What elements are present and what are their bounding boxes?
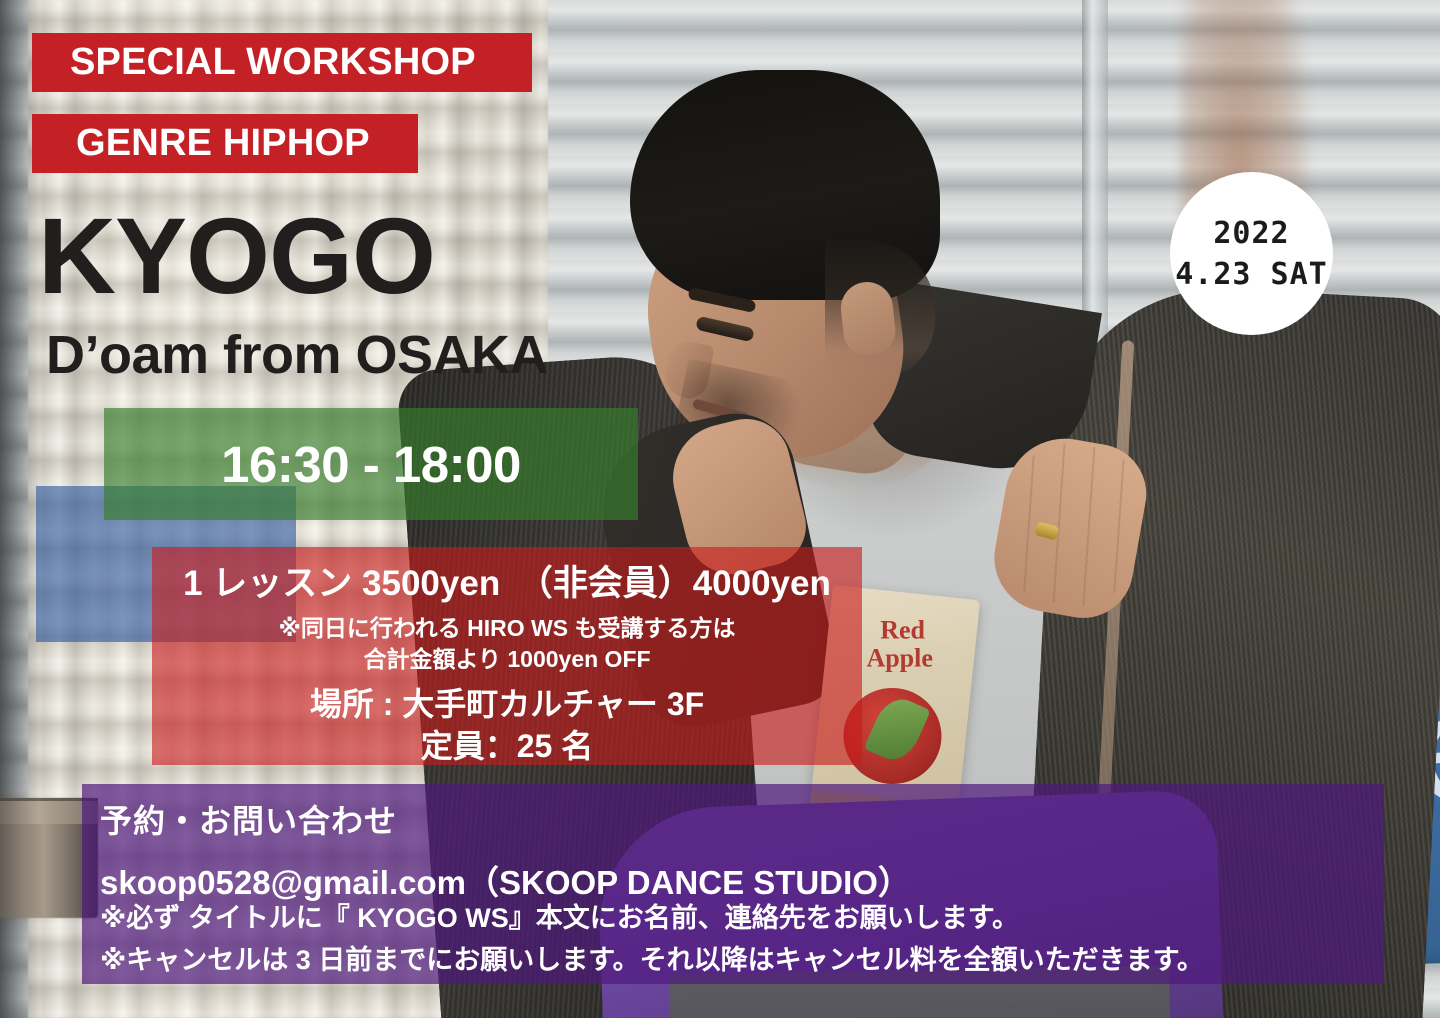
venue-line: 場所 : 大手町カルチャー 3F — [152, 683, 862, 726]
artist-name: KYOGO — [38, 202, 435, 310]
capacity-line: 定員：25 名 — [152, 726, 862, 768]
tag-special-workshop: SPECIAL WORKSHOP — [32, 33, 532, 92]
date-badge: 2022 4.23 SAT — [1170, 172, 1333, 335]
price-note-line-1: ※同日に行われる HIRO WS も受講する方は — [152, 613, 862, 644]
date-year: 2022 — [1213, 216, 1289, 251]
workshop-time: 16:30 - 18:00 — [104, 408, 638, 520]
note-line-2: ※キャンセルは 3 日前までにお願いします。それ以降はキャンセル料を全額いただき… — [100, 940, 1204, 982]
note-line-1: ※必ず タイトルに『 KYOGO WS』本文にお名前、連絡先をお願いします。 — [100, 898, 1204, 940]
price-note-line-2: 合計金額より 1000yen OFF — [152, 644, 862, 675]
head — [630, 70, 960, 460]
pricing-block: 1 レッスン 3500yen （非会員）4000yen ※同日に行われる HIR… — [152, 547, 862, 765]
tag-genre-hiphop: GENRE HIPHOP — [32, 114, 418, 173]
notes-block: ※必ず タイトルに『 KYOGO WS』本文にお名前、連絡先をお願いします。 ※… — [100, 898, 1204, 982]
workshop-flyer: pe — [0, 0, 1440, 1018]
price-main-line: 1 レッスン 3500yen （非会員）4000yen — [152, 561, 862, 607]
contact-block: 予約・お問い合わせ skoop0528@gmail.com（SKOOP DANC… — [100, 796, 911, 904]
date-day: 4.23 SAT — [1175, 257, 1328, 292]
contact-label: 予約・お問い合わせ — [100, 796, 911, 842]
contact-email[interactable]: skoop0528@gmail.com（SKOOP DANCE STUDIO） — [100, 856, 911, 904]
artist-crew: D’oam from OSAKA — [46, 328, 548, 382]
